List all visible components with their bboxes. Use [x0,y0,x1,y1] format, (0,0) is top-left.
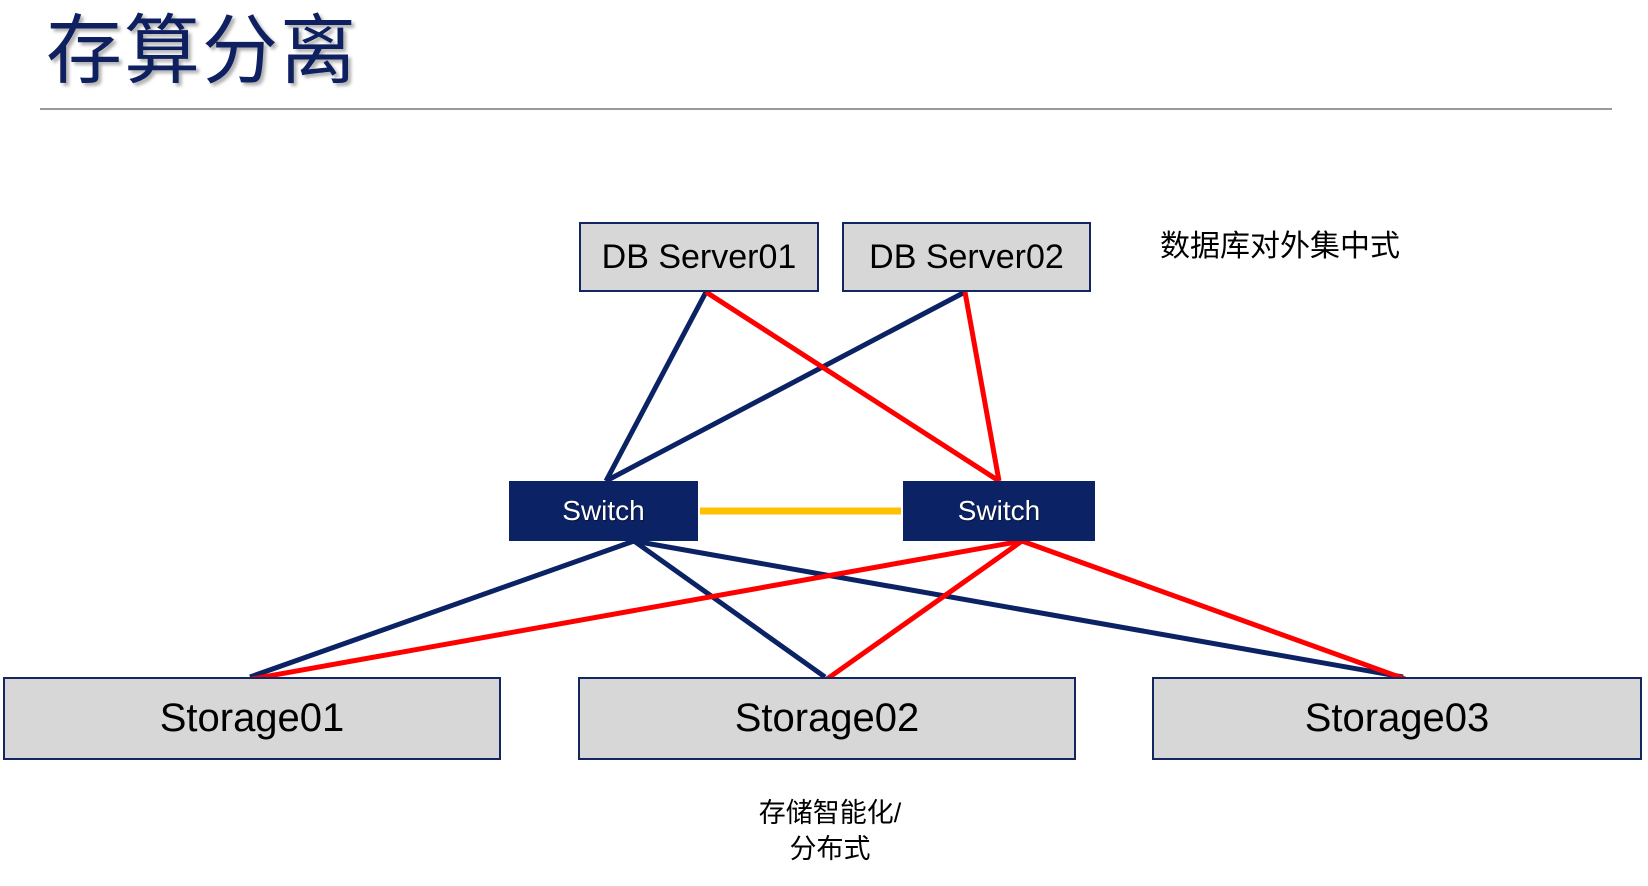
node-db-server-02[interactable]: DB Server02 [842,222,1091,292]
annotation-storage-tier-line2: 分布式 [640,831,1020,867]
node-storage-03[interactable]: Storage03 [1152,677,1642,760]
link-switch-right-storage03 [1022,541,1405,679]
node-storage-02-label: Storage02 [735,696,920,741]
node-switch-right[interactable]: Switch [903,481,1095,541]
link-dbserver01-switch-right [706,292,999,481]
link-switch-right-storage01 [252,541,1022,679]
node-storage-03-label: Storage03 [1305,696,1490,741]
annotation-storage-tier: 存储智能化/ 分布式 [640,795,1020,867]
node-db-server-02-label: DB Server02 [869,238,1064,277]
link-switch-left-storage02 [634,541,825,677]
annotation-storage-tier-line1: 存储智能化/ [640,795,1020,831]
node-db-server-01-label: DB Server01 [602,238,797,277]
link-dbserver02-switch-right [965,292,999,481]
node-switch-right-label: Switch [958,495,1040,527]
node-db-server-01[interactable]: DB Server01 [579,222,819,292]
link-dbserver02-switch-left [606,292,965,481]
link-switch-right-storage02 [827,541,1022,679]
architecture-diagram: DB Server01 DB Server02 Switch Switch St… [0,0,1648,886]
link-switch-left-storage03 [634,541,1403,677]
link-switch-left-storage01 [250,541,634,677]
node-switch-left-label: Switch [562,495,644,527]
node-storage-01[interactable]: Storage01 [3,677,501,760]
annotation-database-tier: 数据库对外集中式 [1160,226,1400,268]
node-storage-02[interactable]: Storage02 [578,677,1076,760]
node-switch-left[interactable]: Switch [509,481,698,541]
node-storage-01-label: Storage01 [160,696,345,741]
